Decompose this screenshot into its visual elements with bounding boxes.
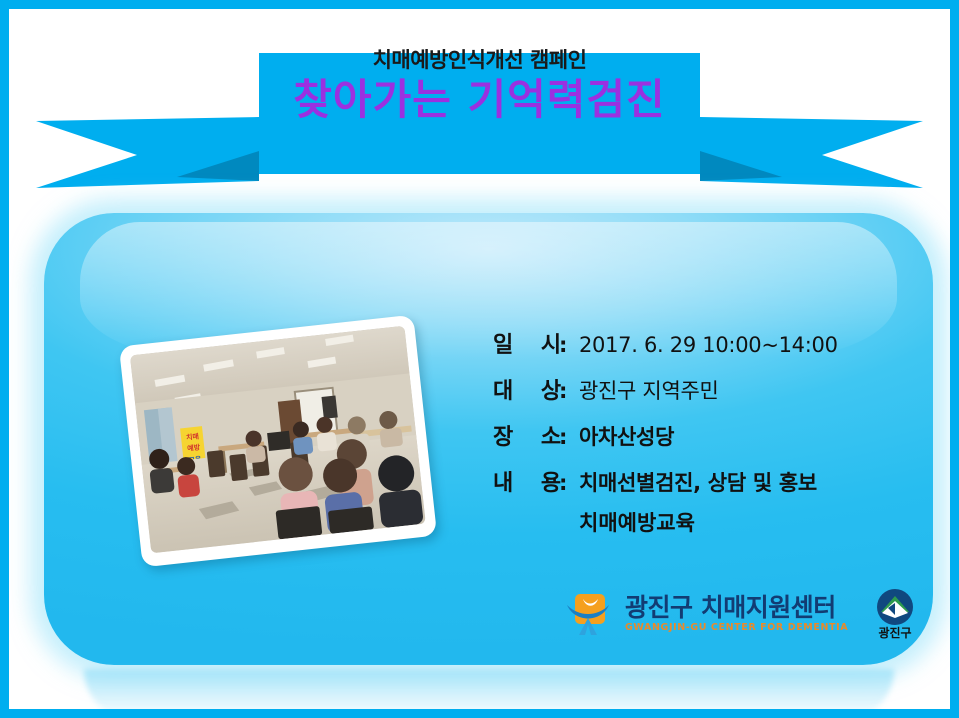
detail-colon-audience: : [559,379,579,403]
svg-text:예방: 예방 [187,442,201,452]
svg-text:광진구: 광진구 [879,625,912,640]
dementia-center-logo-text: 광진구 치매지원센터 GWANGJIN-GU CENTER FOR DEMENT… [625,595,848,633]
gwangjin-gu-emblem-icon: 광진구 [870,587,920,641]
detail-value-content: 치매선별검진, 상담 및 홍보 [579,467,817,497]
logo-group: 광진구 치매지원센터 GWANGJIN-GU CENTER FOR DEMENT… [565,587,920,641]
logo-korean-name: 광진구 치매지원센터 [625,595,848,620]
detail-label-date: 일 시 [493,327,559,359]
detail-value-location: 아차산성당 [579,421,674,451]
detail-label-audience: 대 상 [493,373,559,405]
panel-reflection [84,669,894,718]
event-photo: 치매 예방 교육 [130,326,426,554]
detail-row-date: 일 시 : 2017. 6. 29 10:00~14:00 [493,327,893,359]
detail-value-content-continued: 치매예방교육 [579,507,893,537]
detail-colon-content: : [559,471,579,495]
logo-english-name: GWANGJIN-GU CENTER FOR DEMENTIA [625,623,848,633]
detail-label-location: 장 소 [493,419,559,451]
detail-colon-date: : [559,333,579,357]
event-details: 일 시 : 2017. 6. 29 10:00~14:00 대 상 : 광진구 … [493,327,893,551]
poster-root: 치매예방인식개선 캠페인 찾아가는 기억력검진 [0,0,959,718]
detail-row-location: 장 소 : 아차산성당 [493,419,893,451]
detail-label-content: 내 용 [493,465,559,497]
ribbon-banner [9,33,950,193]
detail-row-audience: 대 상 : 광진구 지역주민 [493,373,893,405]
detail-value-date: 2017. 6. 29 10:00~14:00 [579,333,838,357]
detail-value-audience: 광진구 지역주민 [579,375,719,405]
detail-row-content: 내 용 : 치매선별검진, 상담 및 홍보 [493,465,893,497]
event-photo-frame: 치매 예방 교육 [119,315,437,568]
svg-text:치매: 치매 [186,432,200,442]
detail-colon-location: : [559,425,579,449]
dementia-center-logo-icon [565,591,611,637]
